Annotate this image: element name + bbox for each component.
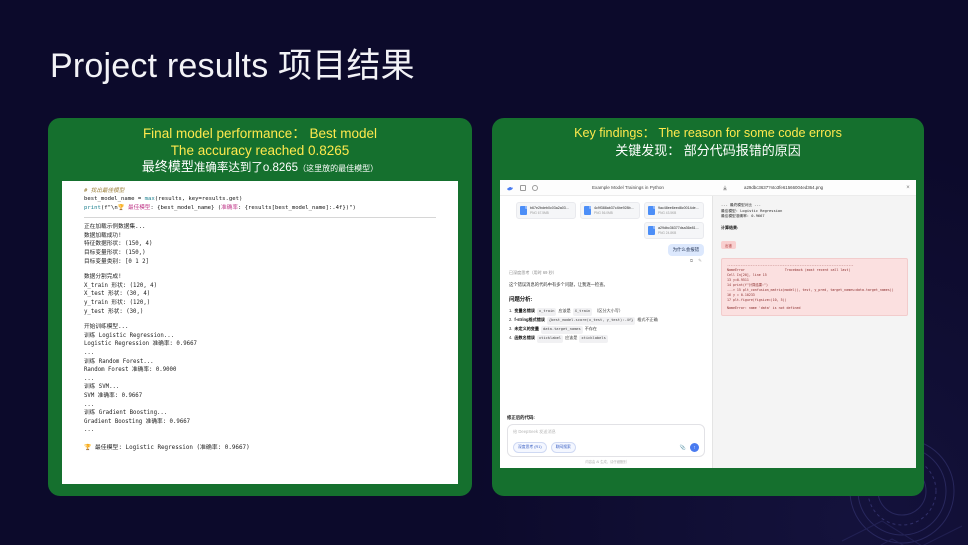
send-arrow-icon[interactable]: ↑	[690, 443, 699, 452]
issue-connector: 应该是	[565, 334, 577, 342]
code-max-fn: max	[145, 196, 155, 202]
output-line: ...	[84, 349, 458, 358]
output-line: 目标变量形状: (150,)	[84, 249, 458, 258]
issue-item: 3. 未定义的变量 data.target_names 不存在	[509, 325, 703, 334]
issue-item: 2. f-string格式错误 {best_model.score(x_test…	[509, 316, 703, 325]
left-heading-zh: 最终模型准确率达到了o.8265（这里放的最佳模型）	[58, 159, 462, 177]
issue-title: 变量名错误	[514, 307, 534, 315]
right-heading-en: Key findings： The reason for some code e…	[502, 125, 914, 142]
trophy-icon: 🏆	[118, 205, 125, 211]
left-result-panel: Final model performance： Best model The …	[48, 118, 472, 496]
final-best-model-text: 最佳模型: Logistic Regression (准确率: 0.9667)	[95, 445, 250, 451]
issue-tail: 不存在	[585, 325, 597, 333]
output-block-loading: 正在加载示例数据集... 数据加载成功! 特征数据形状: (150, 4) 目标…	[84, 223, 458, 266]
right-findings-panel: Key findings： The reason for some code e…	[492, 118, 924, 496]
code-comment-line: # 找出最佳模型	[84, 187, 458, 195]
output-line: 数据加载成功!	[84, 232, 458, 241]
left-heading-zh-rest: 准确率达到了o.8265	[194, 162, 298, 174]
attachment-size: PNG 43.5KB	[658, 211, 700, 215]
code-assignment-line: best_model_name = max(results, key=resul…	[84, 195, 458, 203]
issue-title: 未定义的变量	[514, 325, 539, 333]
output-line: 训练 Random Forest...	[84, 358, 458, 367]
error-traceback-box: ----------------------------------------…	[721, 258, 908, 316]
issue-code: x_train	[537, 308, 557, 317]
output-line: 开始训练模型...	[84, 323, 458, 332]
output-spacer	[84, 435, 458, 442]
code-placeholder-2: : {results[best_model_name]:.4f})")	[238, 205, 356, 211]
issue-tail: 格式不正确	[637, 316, 657, 324]
output-line: Gradient Boosting 准确率: 0.9667	[84, 418, 458, 427]
output-line: 训练 SVM...	[84, 383, 458, 392]
attachment-size: PNG 67.5MB	[530, 211, 572, 215]
issue-number: 2.	[509, 316, 512, 324]
left-heading-en-line2: The accuracy reached 0.8265	[58, 142, 462, 159]
attachment-name: 4c9f388ab37c4be928b...	[594, 206, 638, 210]
final-best-model-line: 🏆 最佳模型: Logistic Regression (准确率: 0.9667…	[84, 442, 458, 451]
left-heading-en-line1: Final model performance： Best model	[58, 125, 462, 142]
deep-think-toggle[interactable]: 深度思考 (R1)	[513, 442, 547, 453]
app-body: b67e2bdeb0c03a2a03... PNG 67.5MB 4c9f388…	[500, 196, 916, 468]
output-block-training: 开始训练模型... 训练 Logistic Regression... Logi…	[84, 323, 458, 435]
history-icon[interactable]	[532, 185, 538, 191]
file-png-icon	[648, 206, 655, 215]
code-max-args: (results, key=results.get)	[155, 196, 243, 202]
cell-divider	[84, 217, 436, 218]
attachment-name: 9ac48ee6eed8c0014de...	[658, 206, 702, 210]
output-line: SVM 准确率: 0.9667	[84, 392, 458, 401]
code-placeholder-1: : {best_model_name} (	[150, 205, 221, 211]
traceback-label: Traceback (most recent call last)	[747, 268, 851, 272]
message-input[interactable]: 给 DeepSeek 发送消息	[513, 429, 699, 435]
output-line: ...	[84, 401, 458, 410]
right-panel-header: Key findings： The reason for some code e…	[492, 118, 924, 164]
paperclip-icon[interactable]: 📎	[680, 445, 686, 451]
issue-number: 1.	[509, 307, 512, 315]
left-panel-header: Final model performance： Best model The …	[48, 118, 472, 181]
file-png-icon	[584, 206, 591, 215]
output-spacer	[84, 266, 458, 273]
attachment-name: a29dbc36377dsa36e81...	[658, 226, 702, 230]
issue-code: xticklabel	[537, 335, 563, 344]
issue-number: 4.	[509, 334, 512, 342]
issue-connector: 应该是	[558, 307, 570, 315]
app-window-title: Example Model Trainings in Python	[544, 185, 712, 190]
trophy-icon: 🏆	[84, 445, 91, 451]
deepseek-app-screenshot: Example Model Trainings in Python a29dbc…	[500, 180, 916, 468]
page-title: Project results 项目结果	[50, 38, 415, 87]
attachment-list: b67e2bdeb0c03a2a03... PNG 67.5MB 4c9f388…	[500, 196, 712, 242]
file-png-icon	[520, 206, 527, 215]
attachment-name: b67e2bdeb0c03a2a03...	[530, 206, 574, 210]
assistant-reply: 已深度思考（用时 69 秒） 这个错误消息的代码中有多个问题，让我逐一检查。 问…	[500, 264, 712, 343]
attachment-card[interactable]: 9ac48ee6eed8c0014de... PNG 43.5KB	[644, 202, 704, 219]
web-search-toggle[interactable]: 联网搜索	[551, 442, 576, 453]
code-accuracy-label: 准确率	[221, 205, 238, 211]
preview-best-accuracy: 最佳模型准确率: 0.9667	[721, 214, 908, 220]
user-message-row: 为什么会报错	[500, 242, 712, 256]
output-line: X_test 形状: (30, 4)	[84, 290, 458, 299]
output-line: 目标变量类别: [0 1 2]	[84, 258, 458, 267]
composer-footer-note: 内容由 AI 生成，请仔细甄别	[507, 457, 705, 464]
preview-content: --- 最终模型对比 --- 最佳模型: Logistic Regression…	[713, 196, 916, 323]
attachment-size: PNG 24.8KB	[658, 231, 700, 235]
thinking-summary[interactable]: 已深度思考（用时 69 秒）	[509, 270, 703, 276]
attachment-card[interactable]: a29dbc36377dsa36e81... PNG 24.8KB	[644, 222, 704, 239]
download-icon[interactable]	[722, 185, 728, 191]
code-best-model-label: 最佳模型	[125, 205, 151, 211]
left-heading-zh-paren: （这里放的最佳模型）	[298, 164, 378, 173]
code-print-fn: print	[84, 205, 101, 211]
attachment-row: b67e2bdeb0c03a2a03... PNG 67.5MB 4c9f388…	[508, 202, 704, 219]
attachment-row: a29dbc36377dsa36e81... PNG 24.8KB	[508, 222, 704, 239]
new-chat-icon[interactable]	[520, 185, 526, 191]
output-line: X_train 形状: (120, 4)	[84, 282, 458, 291]
composer: 修正后的代码: 给 DeepSeek 发送消息 深度思考 (R1) 联网搜索 📎…	[500, 415, 712, 468]
analysis-heading: 问题分析:	[509, 295, 703, 303]
output-line: ...	[84, 375, 458, 384]
left-heading-zh-big: 最终模型	[142, 159, 194, 174]
output-line: Logistic Regression 准确率: 0.9667	[84, 340, 458, 349]
attachment-card[interactable]: b67e2bdeb0c03a2a03... PNG 67.5MB	[516, 202, 576, 219]
output-line: y_train 形状: (120,)	[84, 299, 458, 308]
issue-title: f-string格式错误	[514, 316, 544, 324]
user-message-bubble[interactable]: 为什么会报错	[668, 244, 704, 256]
attachment-card[interactable]: 4c9f388ab37c4be928b... PNG 56.0MB	[580, 202, 640, 219]
titlebar-download-group	[712, 185, 738, 191]
issue-code: {best_model.score(x_test, y_test):.4f}	[547, 317, 635, 326]
error-type: NameError	[727, 268, 745, 272]
output-line: Random Forest 准确率: 0.9000	[84, 366, 458, 375]
chat-pane: b67e2bdeb0c03a2a03... PNG 67.5MB 4c9f388…	[500, 196, 712, 468]
right-heading-zh: 关键发现： 部分代码报错的原因	[502, 142, 914, 160]
output-line: ...	[84, 426, 458, 435]
code-print-line: print(f"\n🏆 最佳模型: {best_model_name} (准确率…	[84, 204, 458, 212]
output-line: 训练 Logistic Regression...	[84, 332, 458, 341]
output-line: 正在加载示例数据集...	[84, 223, 458, 232]
code-equals: =	[135, 196, 145, 202]
close-icon[interactable]: ×	[900, 185, 916, 191]
traceback-tail: NameError: name 'data' is not defined	[727, 303, 902, 311]
output-line: 特征数据形状: (150, 4)	[84, 240, 458, 249]
app-titlebar: Example Model Trainings in Python a29dbc…	[500, 180, 916, 196]
preview-section-title: 计算结果:	[721, 225, 908, 231]
code-fstring-open: (f"\n	[101, 205, 118, 211]
preview-filename: a29dbc3637?nto3fe61566004ed364.png	[738, 185, 900, 190]
issue-number: 3.	[509, 325, 512, 333]
output-line: 训练 Gradient Boosting...	[84, 409, 458, 418]
issue-code-fixed: xticklabels	[579, 335, 607, 344]
output-line: 数据分割完成!	[84, 273, 458, 282]
titlebar-left-group: Example Model Trainings in Python	[500, 184, 712, 192]
issue-tail: （区分大小写）	[594, 307, 623, 315]
issue-code-fixed: X_train	[573, 308, 593, 317]
output-line: y_test 形状: (30,)	[84, 308, 458, 317]
issue-item: 1. 变量名错误 x_train 应该是 X_train （区分大小写）	[509, 307, 703, 316]
slide-root: AI Project results 项目结果 Final model perf…	[0, 0, 968, 545]
reply-intro: 这个错误消息的代码中有多个问题，让我逐一检查。	[509, 281, 703, 288]
output-block-split: 数据分割完成! X_train 形状: (120, 4) X_test 形状: …	[84, 273, 458, 316]
file-png-icon	[648, 226, 655, 235]
output-spacer	[84, 316, 458, 323]
issue-title: 函数名错误	[514, 334, 534, 342]
composer-label: 修正后的代码:	[507, 415, 705, 421]
deepseek-whale-icon[interactable]	[506, 184, 514, 192]
issue-code: data.target_names	[541, 326, 583, 335]
attachment-size: PNG 56.0MB	[594, 211, 636, 215]
notebook-screenshot: # 找出最佳模型 best_model_name = max(results, …	[62, 181, 458, 484]
status-badge: 出错	[721, 241, 736, 249]
code-var-name: best_model_name	[84, 196, 135, 202]
composer-toolbar: 深度思考 (R1) 联网搜索 📎 ↑	[513, 442, 699, 453]
message-actions: ⧉ ✎	[500, 256, 712, 264]
image-preview-pane[interactable]: --- 最终模型对比 --- 最佳模型: Logistic Regression…	[712, 196, 916, 468]
code-comment-text: # 找出最佳模型	[84, 188, 124, 194]
composer-box[interactable]: 给 DeepSeek 发送消息 深度思考 (R1) 联网搜索 📎 ↑	[507, 424, 705, 457]
issue-item: 4. 函数名错误 xticklabel 应该是 xticklabels	[509, 334, 703, 343]
